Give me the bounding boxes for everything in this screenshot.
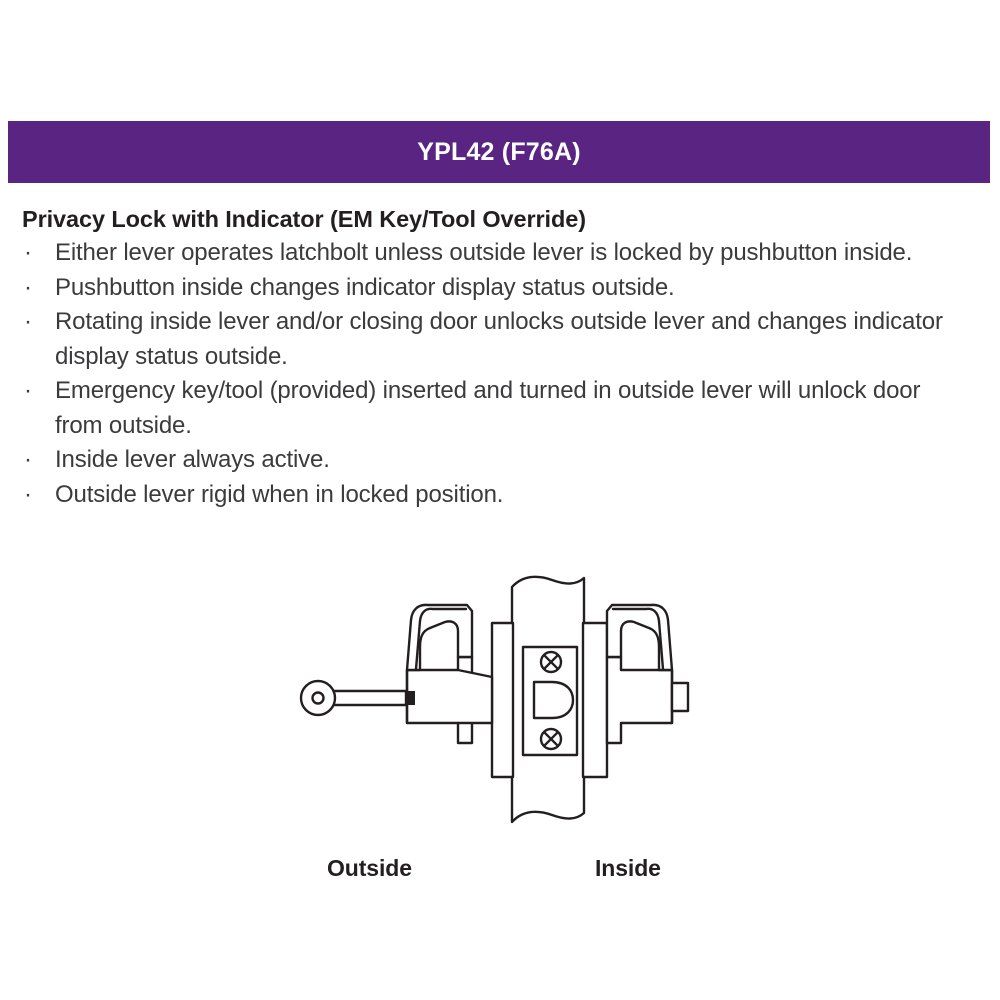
outside-rose <box>492 623 513 777</box>
bullet-icon: · <box>24 374 32 409</box>
function-title: Privacy Lock with Indicator (EM Key/Tool… <box>22 204 982 234</box>
inside-lever <box>607 605 688 743</box>
faceplate-screw-top <box>541 652 561 672</box>
bullet-icon: · <box>24 305 32 340</box>
product-header-bar: YPL42 (F76A) <box>8 121 990 183</box>
feature-text: Pushbutton inside changes indicator disp… <box>55 274 675 301</box>
feature-item: ·Inside lever always active. <box>22 443 967 478</box>
feature-item: ·Emergency key/tool (provided) inserted … <box>22 374 967 443</box>
feature-text: Emergency key/tool (provided) inserted a… <box>55 377 920 439</box>
pushbutton[interactable] <box>672 683 688 711</box>
feature-text: Either lever operates latchbolt unless o… <box>55 239 912 266</box>
inside-rose <box>583 623 607 777</box>
feature-text: Outside lever rigid when in locked posit… <box>55 481 503 508</box>
faceplate-screw-bottom <box>541 729 561 749</box>
feature-text: Inside lever always active. <box>55 446 330 473</box>
feature-list: ·Either lever operates latchbolt unless … <box>22 236 982 512</box>
feature-item: ·Pushbutton inside changes indicator dis… <box>22 271 967 306</box>
bullet-icon: · <box>24 443 32 478</box>
description-block: Privacy Lock with Indicator (EM Key/Tool… <box>22 204 982 512</box>
caption-outside: Outside <box>327 855 412 882</box>
feature-item: ·Either lever operates latchbolt unless … <box>22 236 967 271</box>
bullet-icon: · <box>24 478 32 513</box>
outside-lever <box>406 605 492 743</box>
bullet-icon: · <box>24 236 32 271</box>
bullet-icon: · <box>24 271 32 306</box>
lock-diagram <box>280 565 720 835</box>
latchbolt <box>534 682 573 718</box>
page-title: YPL42 (F76A) <box>417 140 581 165</box>
keyway-slot <box>406 691 415 705</box>
feature-item: ·Outside lever rigid when in locked posi… <box>22 478 967 513</box>
latch-faceplate <box>523 647 577 755</box>
page-root: YPL42 (F76A) Privacy Lock with Indicator… <box>0 0 1000 1000</box>
caption-inside: Inside <box>595 855 661 882</box>
emergency-key-tool[interactable] <box>301 681 406 715</box>
feature-item: ·Rotating inside lever and/or closing do… <box>22 305 967 374</box>
feature-text: Rotating inside lever and/or closing doo… <box>55 308 943 370</box>
